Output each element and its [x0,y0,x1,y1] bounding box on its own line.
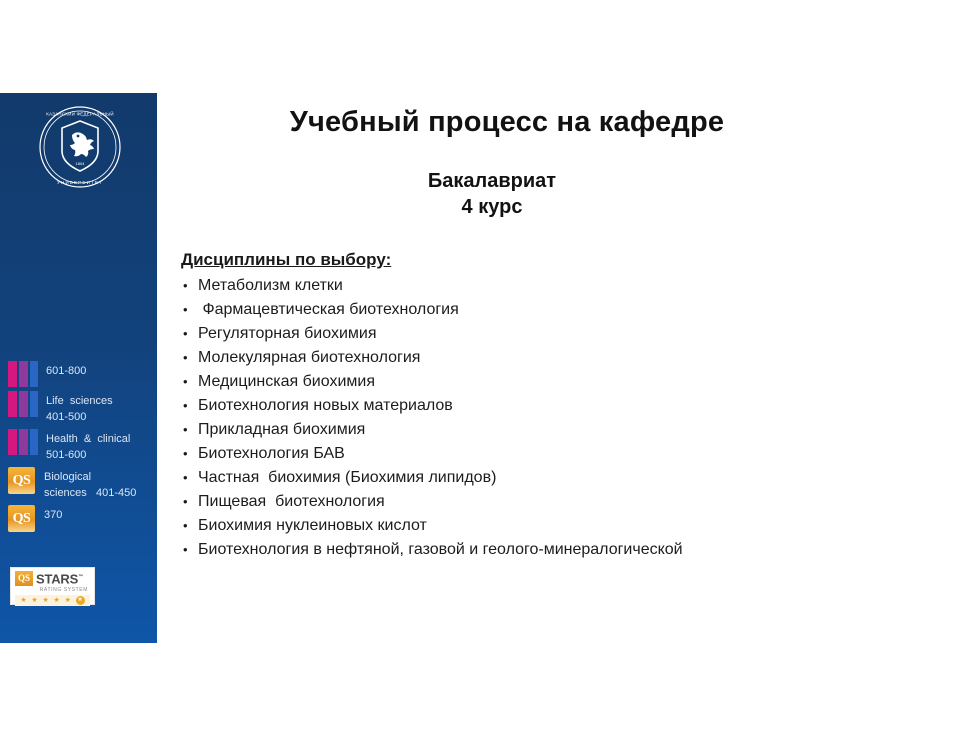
the-logo-icon [8,391,38,417]
list-item: Прикладная биохимия [181,418,683,442]
list-item: Пищевая биотехнология [181,490,683,514]
page-title: Учебный процесс на кафедре [157,106,857,139]
star-icon: ★ [31,597,37,604]
qs-stars-mark-icon: QS [15,571,33,586]
ranking-text: 601-800 [46,361,86,379]
ranking-text: Biological sciences 401-450 [44,467,136,501]
ranking-row-the-life-sciences: Life sciences 401-500 [0,391,157,425]
ranking-line: 401-500 [46,409,113,425]
list-item: Метаболизм клетки [181,274,683,298]
list-item: Регуляторная биохимия [181,322,683,346]
list-item: Частная биохимия (Биохимия липидов) [181,466,683,490]
qs-stars-word: STARS™ [36,571,83,585]
ranking-line: 370 [44,507,62,523]
ranking-text: Life sciences 401-500 [46,391,113,425]
university-crest-icon: 1804 КАЗАНСКИЙ ФЕДЕРАЛЬНЫЙ УНИВЕРСИТЕТ [38,105,122,189]
the-logo-icon [8,429,38,455]
qs-stars-badge: QS STARS™ RATING SYSTEM ★ ★ ★ ★ ★ ★ [10,567,95,605]
ranking-line: 501-600 [46,447,130,463]
subtitle-year: 4 курс [157,194,827,220]
disciplines-list: Метаболизм клетки Фармацевтическая биоте… [181,274,683,562]
list-item: Биотехнология в нефтяной, газовой и геол… [181,538,683,562]
subtitle-degree: Бакалавриат [157,168,827,194]
ranking-row-qs-overall: QS 370 [0,505,157,532]
ranking-row-the-health-clinical: Health & clinical 501-600 [0,429,157,463]
the-logo-icon [8,361,38,387]
qs-logo-icon: QS [8,467,35,494]
svg-text:1804: 1804 [76,161,86,166]
ranking-text: Health & clinical 501-600 [46,429,130,463]
ranking-line: Health & clinical [46,431,130,447]
star-icon: ★ [54,597,60,604]
slide-subtitle: Бакалавриат 4 курс [157,168,827,220]
list-item: Биотехнология новых материалов [181,394,683,418]
ranking-row-the-overall: 601-800 [0,361,157,387]
ranking-line: sciences 401-450 [44,485,136,501]
qs-stars-subtitle: RATING SYSTEM [15,587,90,593]
sidebar: 1804 КАЗАНСКИЙ ФЕДЕРАЛЬНЫЙ УНИВЕРСИТЕТ 6… [0,93,157,643]
rankings-list: 601-800 Life sciences 401-500 Health & c… [0,361,157,536]
list-item: Фармацевтическая биотехнология [181,298,683,322]
star-highlight-icon: ★ [76,596,85,605]
star-icon: ★ [42,597,48,604]
ranking-text: 370 [44,505,62,523]
disciplines-heading: Дисциплины по выбору: [181,250,391,270]
list-item: Медицинская биохимия [181,370,683,394]
ranking-line: Life sciences [46,393,113,409]
svg-text:УНИВЕРСИТЕТ: УНИВЕРСИТЕТ [57,180,103,185]
star-icon: ★ [20,597,26,604]
svg-text:КАЗАНСКИЙ ФЕДЕРАЛЬНЫЙ: КАЗАНСКИЙ ФЕДЕРАЛЬНЫЙ [46,112,114,117]
ranking-line: 601-800 [46,363,86,379]
list-item: Молекулярная биотехнология [181,346,683,370]
ranking-row-qs-biological-sciences: QS Biological sciences 401-450 [0,467,157,501]
qs-logo-icon: QS [8,505,35,532]
list-item: Биохимия нуклеиновых кислот [181,514,683,538]
slide-content: Учебный процесс на кафедре Бакалавриат 4… [157,0,980,735]
qs-stars-rating-bar: ★ ★ ★ ★ ★ ★ [15,595,90,606]
ranking-line: Biological [44,469,136,485]
list-item: Биотехнология БАВ [181,442,683,466]
qs-stars-trademark: ™ [78,574,83,580]
star-icon: ★ [65,597,71,604]
